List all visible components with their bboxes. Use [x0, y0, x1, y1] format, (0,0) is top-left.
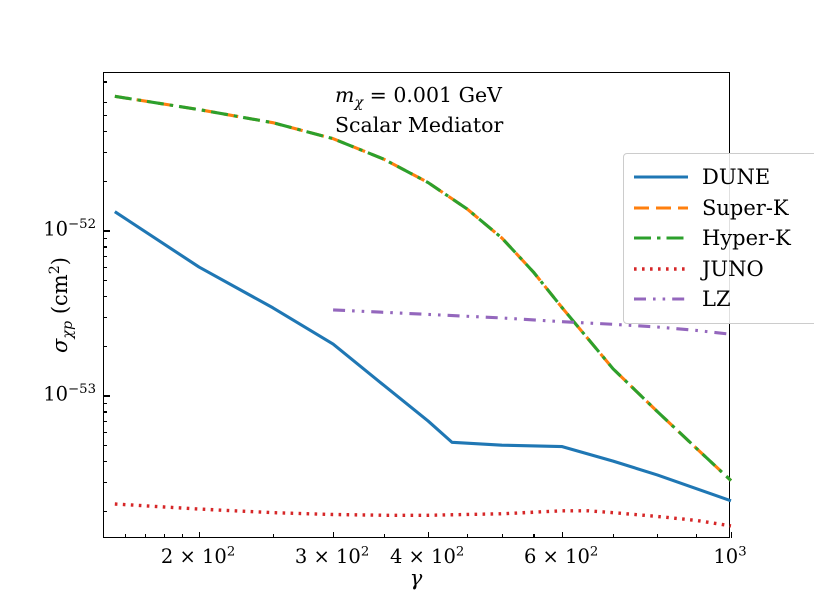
annotation-mass-symbol: m [335, 83, 354, 107]
x-tick-minor [696, 534, 697, 538]
y-tick-minor [104, 403, 108, 404]
y-tick-mantissa: 10 [43, 383, 68, 406]
x-tick-label: 4 × 102 [390, 545, 464, 568]
legend-swatch [633, 198, 689, 218]
series-line-juno [115, 504, 731, 526]
plot-annotation: mχ = 0.001 GeV Scalar Mediator [335, 83, 503, 138]
legend-label: Super-K [702, 196, 789, 220]
legend-box[interactable]: DUNESuper-KHyper-KJUNOLZ [623, 153, 814, 324]
x-tick-minor [273, 534, 274, 538]
x-tick-minor [145, 534, 146, 538]
y-tick-minor [104, 81, 108, 82]
x-tick-exponent: 2 [361, 545, 369, 560]
x-tick-mantissa: 4 × 10 [390, 545, 456, 568]
y-tick-exponent: −53 [68, 382, 96, 397]
y-tick-major [104, 230, 110, 231]
legend-label: DUNE [702, 165, 770, 189]
x-tick-minor [384, 534, 385, 538]
x-tick-major [199, 532, 200, 538]
x-tick-major [428, 532, 429, 538]
x-tick-exponent: 2 [456, 545, 464, 560]
x-tick-major [333, 532, 334, 538]
y-tick-minor [104, 246, 108, 247]
y-tick-minor [104, 256, 108, 257]
x-tick-exponent: 3 [738, 545, 746, 560]
x-tick-exponent: 2 [227, 545, 235, 560]
annotation-mediator-line: Scalar Mediator [335, 113, 503, 138]
legend-swatch [633, 259, 689, 279]
y-tick-mantissa: 10 [43, 218, 68, 241]
y-tick-minor [104, 267, 108, 268]
x-tick-mantissa: 3 × 10 [295, 545, 361, 568]
x-tick-minor [182, 534, 183, 538]
x-tick-mantissa: 2 × 10 [161, 545, 227, 568]
annotation-mass-line: mχ = 0.001 GeV [335, 83, 503, 113]
x-tick-minor [125, 534, 126, 538]
x-tick-minor [657, 534, 658, 538]
x-tick-major [562, 532, 563, 538]
y-tick-minor [104, 317, 108, 318]
x-tick-minor [533, 534, 534, 538]
y-axis-unit-open: (cm [48, 274, 72, 321]
y-tick-minor [104, 280, 108, 281]
y-tick-minor [104, 181, 108, 182]
x-tick-mantissa: 6 × 10 [524, 545, 590, 568]
x-tick-label: 2 × 102 [161, 545, 235, 568]
y-axis-unit-exponent: 2 [47, 265, 63, 274]
plot-area: mχ = 0.001 GeV Scalar Mediator DUNESuper… [103, 72, 730, 538]
x-tick-label: 6 × 102 [524, 545, 598, 568]
y-tick-minor [104, 131, 108, 132]
legend-swatch [633, 228, 689, 248]
y-axis-unit-close: ) [48, 257, 72, 265]
y-tick-minor [104, 482, 108, 483]
x-tick-exponent: 2 [590, 545, 598, 560]
legend-label: LZ [702, 287, 731, 311]
y-tick-exponent: −52 [68, 217, 96, 232]
x-tick-label: 103 [713, 545, 746, 568]
y-tick-label: 10−52 [0, 218, 96, 241]
legend-swatch [633, 167, 689, 187]
y-tick-minor [104, 346, 108, 347]
legend-item-dune[interactable]: DUNE [633, 162, 814, 193]
y-tick-minor [104, 296, 108, 297]
y-tick-major [104, 395, 110, 396]
y-tick-minor [104, 115, 108, 116]
x-tick-minor [467, 534, 468, 538]
legend-item-hyper-k[interactable]: Hyper-K [633, 223, 814, 254]
y-tick-minor [104, 511, 108, 512]
legend-item-lz[interactable]: LZ [633, 284, 814, 315]
y-tick-minor [104, 421, 108, 422]
y-tick-minor [104, 152, 108, 153]
x-tick-minor [502, 534, 503, 538]
y-tick-label: 10−53 [0, 383, 96, 406]
legend-item-super-k[interactable]: Super-K [633, 193, 814, 224]
legend-label: Hyper-K [702, 226, 791, 250]
annotation-mass-subscript: χ [354, 95, 363, 111]
legend-item-juno[interactable]: JUNO [633, 254, 814, 285]
x-tick-label: 3 × 102 [295, 545, 369, 568]
legend-label: JUNO [702, 257, 764, 281]
y-tick-minor [104, 445, 108, 446]
x-tick-mantissa: 10 [713, 545, 738, 568]
y-axis-sigma-symbol: σ [48, 339, 72, 353]
legend-swatch [633, 289, 689, 309]
y-axis-subscript: χp [60, 321, 76, 339]
x-tick-major [731, 532, 732, 538]
y-axis-title: σχp (cm2) [48, 257, 76, 353]
annotation-mass-value: = 0.001 GeV [363, 83, 502, 107]
y-tick-minor [104, 432, 108, 433]
y-tick-minor [104, 461, 108, 462]
x-tick-minor [613, 534, 614, 538]
y-tick-minor [104, 411, 108, 412]
x-axis-title: γ [410, 566, 423, 590]
y-tick-minor [104, 102, 108, 103]
y-tick-minor [104, 238, 108, 239]
x-tick-minor [164, 534, 165, 538]
figure-canvas: σχp (cm2) γ mχ = 0.001 GeV Scalar Mediat… [0, 0, 814, 610]
